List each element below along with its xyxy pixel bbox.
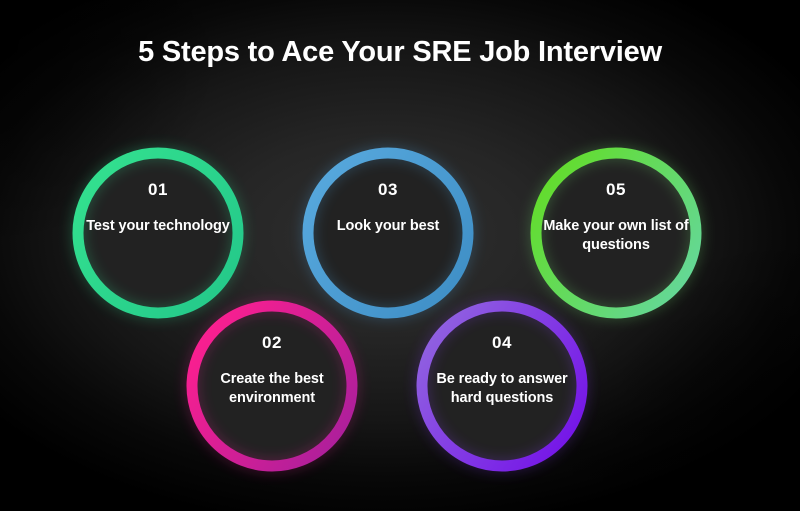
ring-layer-bottom: [192, 306, 582, 466]
rings-diagram: [0, 0, 800, 511]
ring-inner-disc: [313, 158, 463, 308]
ring-inner-disc: [197, 311, 347, 461]
ring-layer-top: [78, 153, 696, 313]
ring-inner-disc: [427, 311, 577, 461]
page-title: 5 Steps to Ace Your SRE Job Interview: [0, 36, 800, 69]
ring-inner-disc: [541, 158, 691, 308]
ring-inner-disc: [83, 158, 233, 308]
infographic-canvas: 5 Steps to Ace Your SRE Job Interview 01…: [0, 0, 800, 511]
